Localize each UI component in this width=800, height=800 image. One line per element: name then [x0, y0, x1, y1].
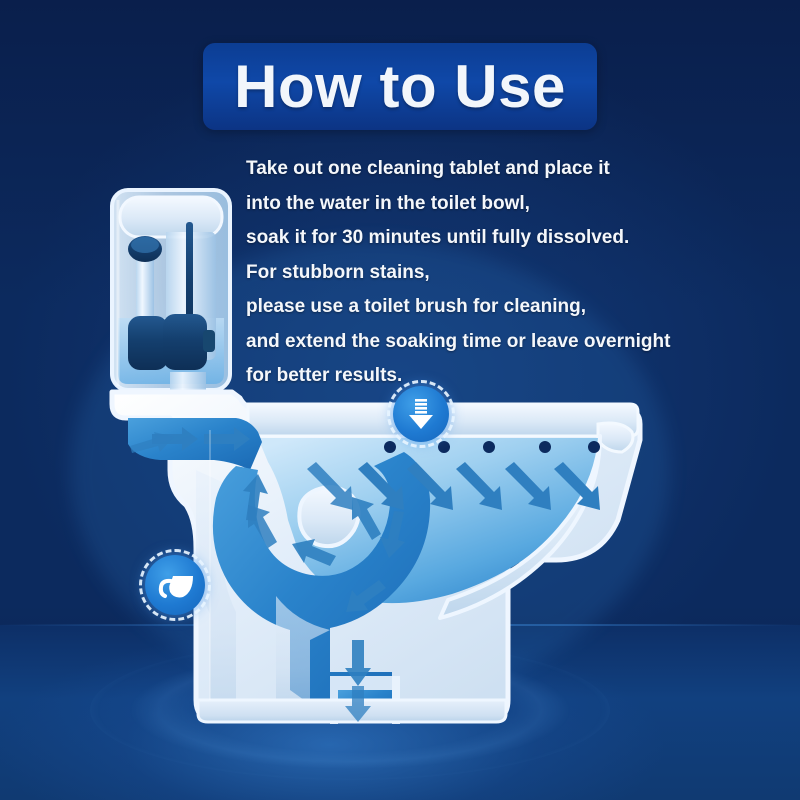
- instruction-line: Take out one cleaning tablet and place i…: [246, 152, 716, 187]
- instruction-line: into the water in the toilet bowl,: [246, 187, 716, 222]
- page-title: How to Use: [234, 57, 566, 117]
- fill-valve-block: [128, 316, 168, 370]
- title-banner: How to Use: [203, 43, 597, 130]
- instruction-line: soak it for 30 minutes until fully disso…: [246, 221, 716, 256]
- badge-dashed-ring: [139, 549, 211, 621]
- badge-siphon-trap[interactable]: [139, 549, 211, 621]
- flush-valve-nipple: [203, 330, 215, 352]
- rim-right-knob: [598, 423, 633, 452]
- instruction-line: For stubborn stains,: [246, 256, 716, 291]
- tank-lid: [120, 197, 222, 237]
- infographic-canvas: How to Use Take out one cleaning tablet …: [0, 0, 800, 800]
- instruction-line: and extend the soaking time or leave ove…: [246, 325, 716, 360]
- fill-valve-cap-highlight: [131, 237, 159, 253]
- instruction-line: please use a toilet brush for cleaning,: [246, 290, 716, 325]
- toilet-tank: [112, 190, 230, 398]
- flush-valve-block: [163, 314, 207, 370]
- instruction-line: for better results.: [246, 359, 716, 394]
- instructions-block: Take out one cleaning tablet and place i…: [246, 152, 716, 394]
